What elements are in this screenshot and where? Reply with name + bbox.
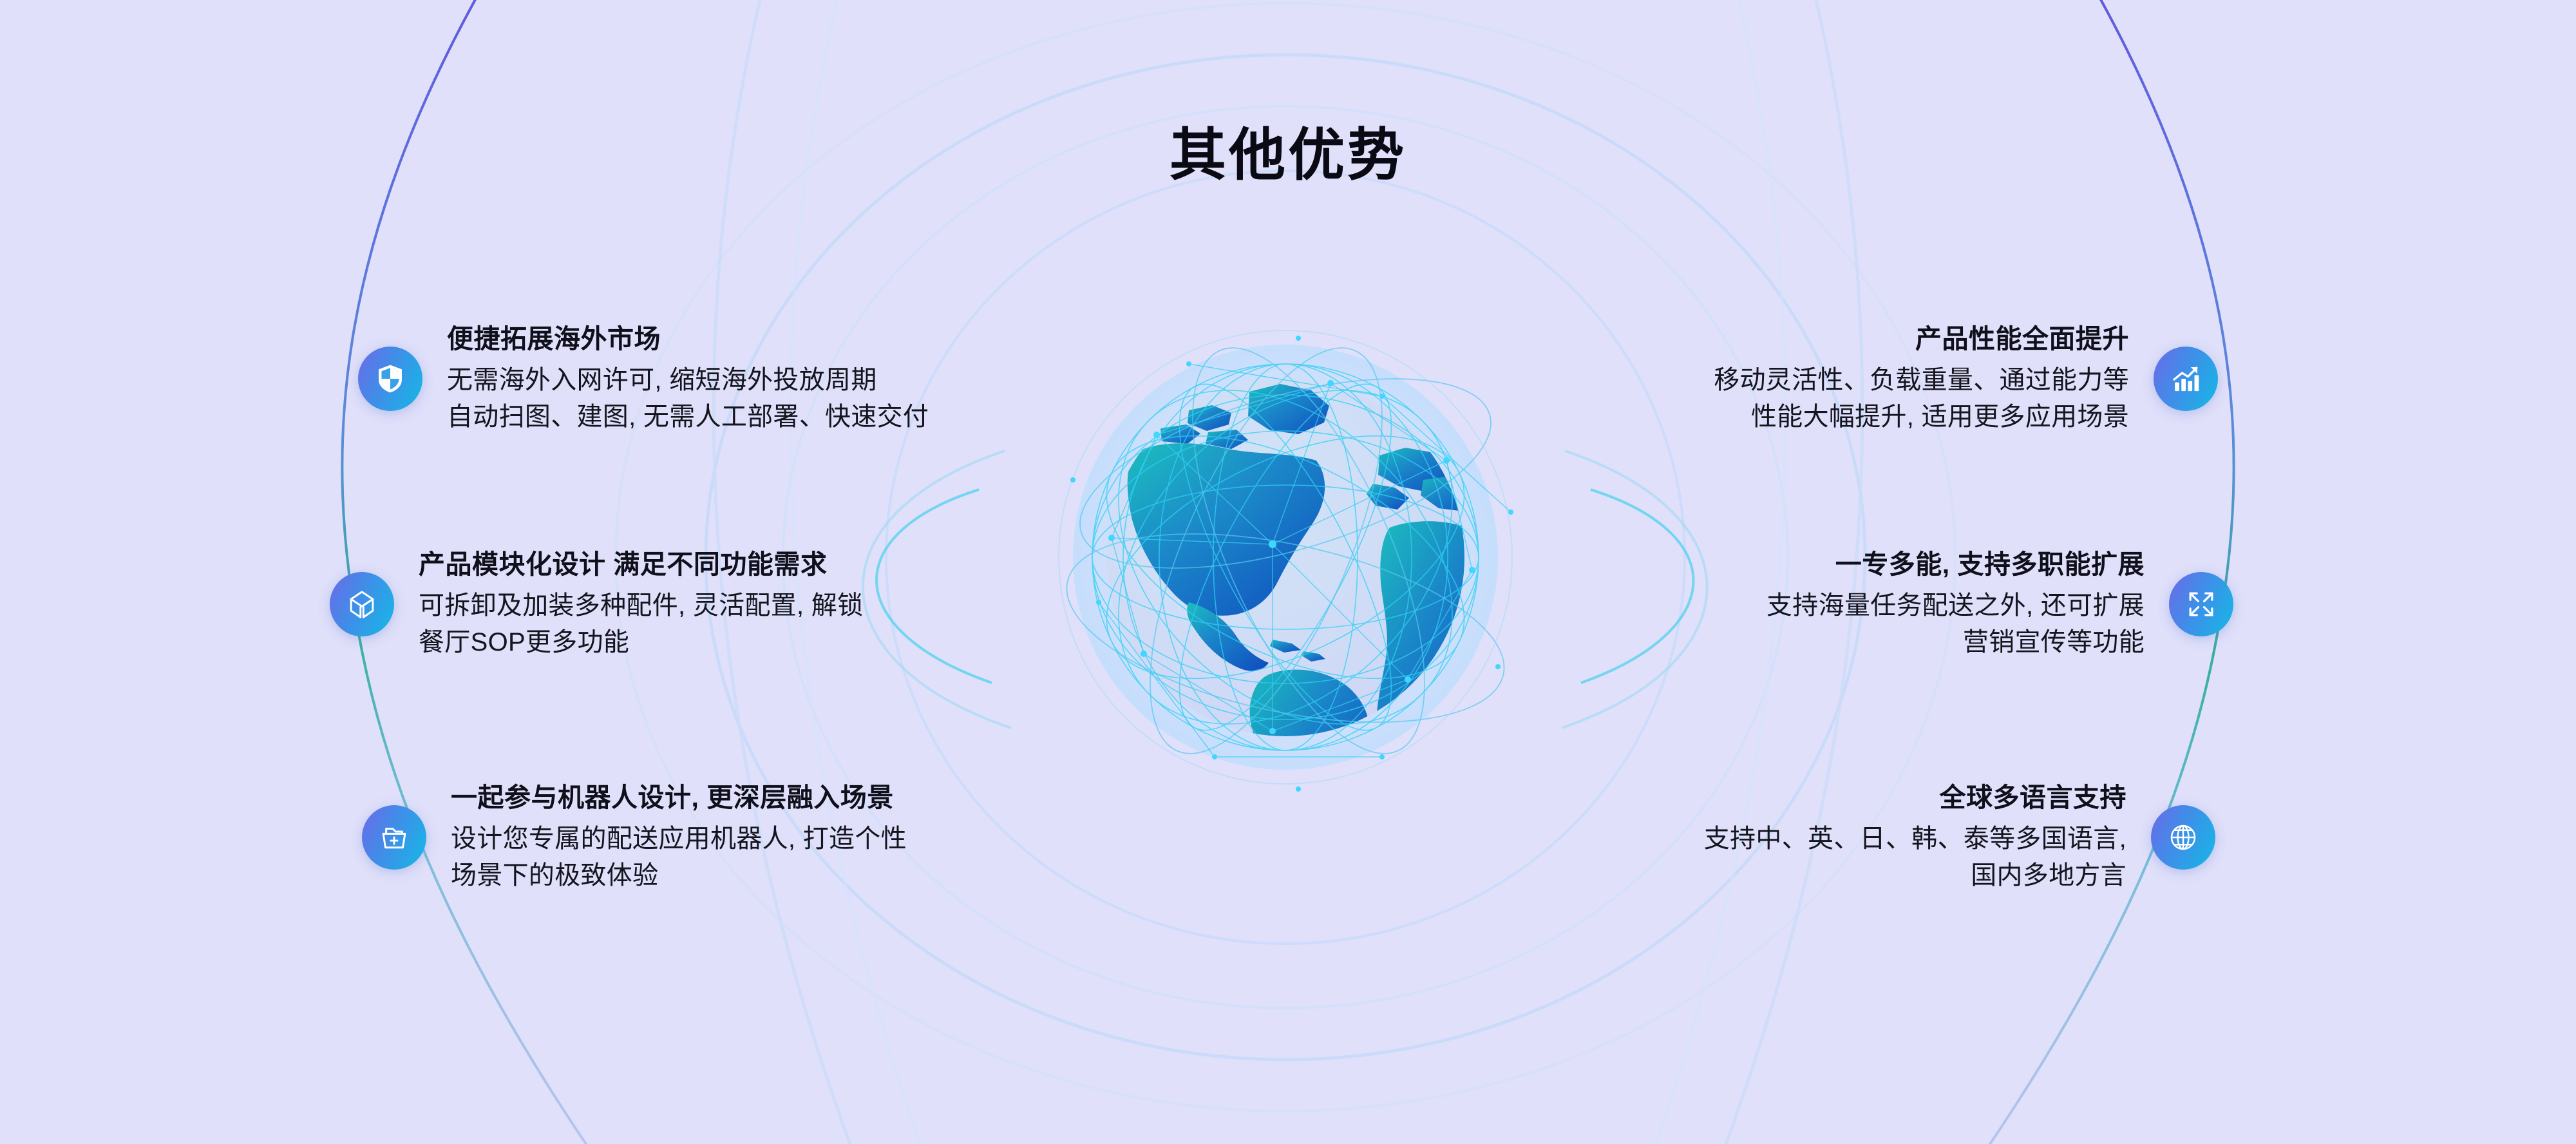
feature-line: 场景下的极致体验 — [451, 857, 907, 894]
feature-line: 国内多地方言 — [1704, 857, 2126, 894]
feature-item-left-1[interactable]: 产品模块化设计 满足不同功能需求 可拆卸及加装多种配件, 灵活配置, 解锁 餐厅… — [330, 548, 863, 661]
feature-item-right-1[interactable]: 一专多能, 支持多职能扩展 支持海量任务配送之外, 还可扩展 营销宣传等功能 — [1766, 548, 2233, 661]
folder-plus-icon — [362, 805, 426, 870]
page-title: 其他优势 — [0, 110, 2576, 191]
globe-icon — [2151, 805, 2215, 870]
feature-title: 一起参与机器人设计, 更深层融入场景 — [451, 781, 907, 814]
lens-arc-left — [876, 490, 992, 683]
feature-line: 可拆卸及加装多种配件, 灵活配置, 解锁 — [419, 587, 863, 624]
globe-network-illustration — [996, 267, 1575, 847]
feature-line: 支持中、英、日、韩、泰等多国语言, — [1704, 821, 2126, 857]
advantages-section: 其他优势 — [0, 0, 2576, 1144]
feature-item-right-2[interactable]: 全球多语言支持 支持中、英、日、韩、泰等多国语言, 国内多地方言 — [1704, 781, 2215, 894]
feature-title: 便捷拓展海外市场 — [447, 322, 929, 356]
feature-title: 全球多语言支持 — [1704, 781, 2126, 814]
feature-text-right-0: 产品性能全面提升 移动灵活性、负载重量、通过能力等 性能大幅提升, 适用更多应用… — [1714, 322, 2129, 435]
expand-arrows-icon — [2169, 572, 2233, 636]
feature-line: 无需海外入网许可, 缩短海外投放周期 — [447, 362, 929, 399]
feature-line: 性能大幅提升, 适用更多应用场景 — [1714, 399, 2129, 435]
lens-arc-left-2 — [863, 451, 1011, 728]
feature-line: 自动扫图、建图, 无需人工部署、快速交付 — [447, 399, 929, 435]
feature-text-right-2: 全球多语言支持 支持中、英、日、韩、泰等多国语言, 国内多地方言 — [1704, 781, 2126, 894]
feature-line: 移动灵活性、负载重量、通过能力等 — [1714, 362, 2129, 399]
feature-line: 支持海量任务配送之外, 还可扩展 — [1766, 587, 2145, 624]
lens-arc-right — [1581, 490, 1694, 683]
feature-title: 一专多能, 支持多职能扩展 — [1766, 548, 2145, 581]
feature-text-left-1: 产品模块化设计 满足不同功能需求 可拆卸及加装多种配件, 灵活配置, 解锁 餐厅… — [419, 548, 863, 661]
shield-icon — [358, 347, 422, 411]
feature-text-left-2: 一起参与机器人设计, 更深层融入场景 设计您专属的配送应用机器人, 打造个性 场… — [451, 781, 907, 894]
feature-line: 餐厅SOP更多功能 — [419, 624, 863, 661]
lens-arc-right-2 — [1562, 451, 1707, 728]
feature-text-left-0: 便捷拓展海外市场 无需海外入网许可, 缩短海外投放周期 自动扫图、建图, 无需人… — [447, 322, 929, 435]
cube-icon — [330, 572, 394, 636]
feature-line: 设计您专属的配送应用机器人, 打造个性 — [451, 821, 907, 857]
feature-item-right-0[interactable]: 产品性能全面提升 移动灵活性、负载重量、通过能力等 性能大幅提升, 适用更多应用… — [1714, 322, 2218, 435]
chart-growth-icon — [2154, 347, 2218, 411]
feature-text-right-1: 一专多能, 支持多职能扩展 支持海量任务配送之外, 还可扩展 营销宣传等功能 — [1766, 548, 2145, 661]
feature-title: 产品模块化设计 满足不同功能需求 — [419, 548, 863, 581]
feature-line: 营销宣传等功能 — [1766, 624, 2145, 661]
feature-item-left-2[interactable]: 一起参与机器人设计, 更深层融入场景 设计您专属的配送应用机器人, 打造个性 场… — [362, 781, 907, 894]
feature-title: 产品性能全面提升 — [1714, 322, 2129, 356]
feature-item-left-0[interactable]: 便捷拓展海外市场 无需海外入网许可, 缩短海外投放周期 自动扫图、建图, 无需人… — [358, 322, 929, 435]
